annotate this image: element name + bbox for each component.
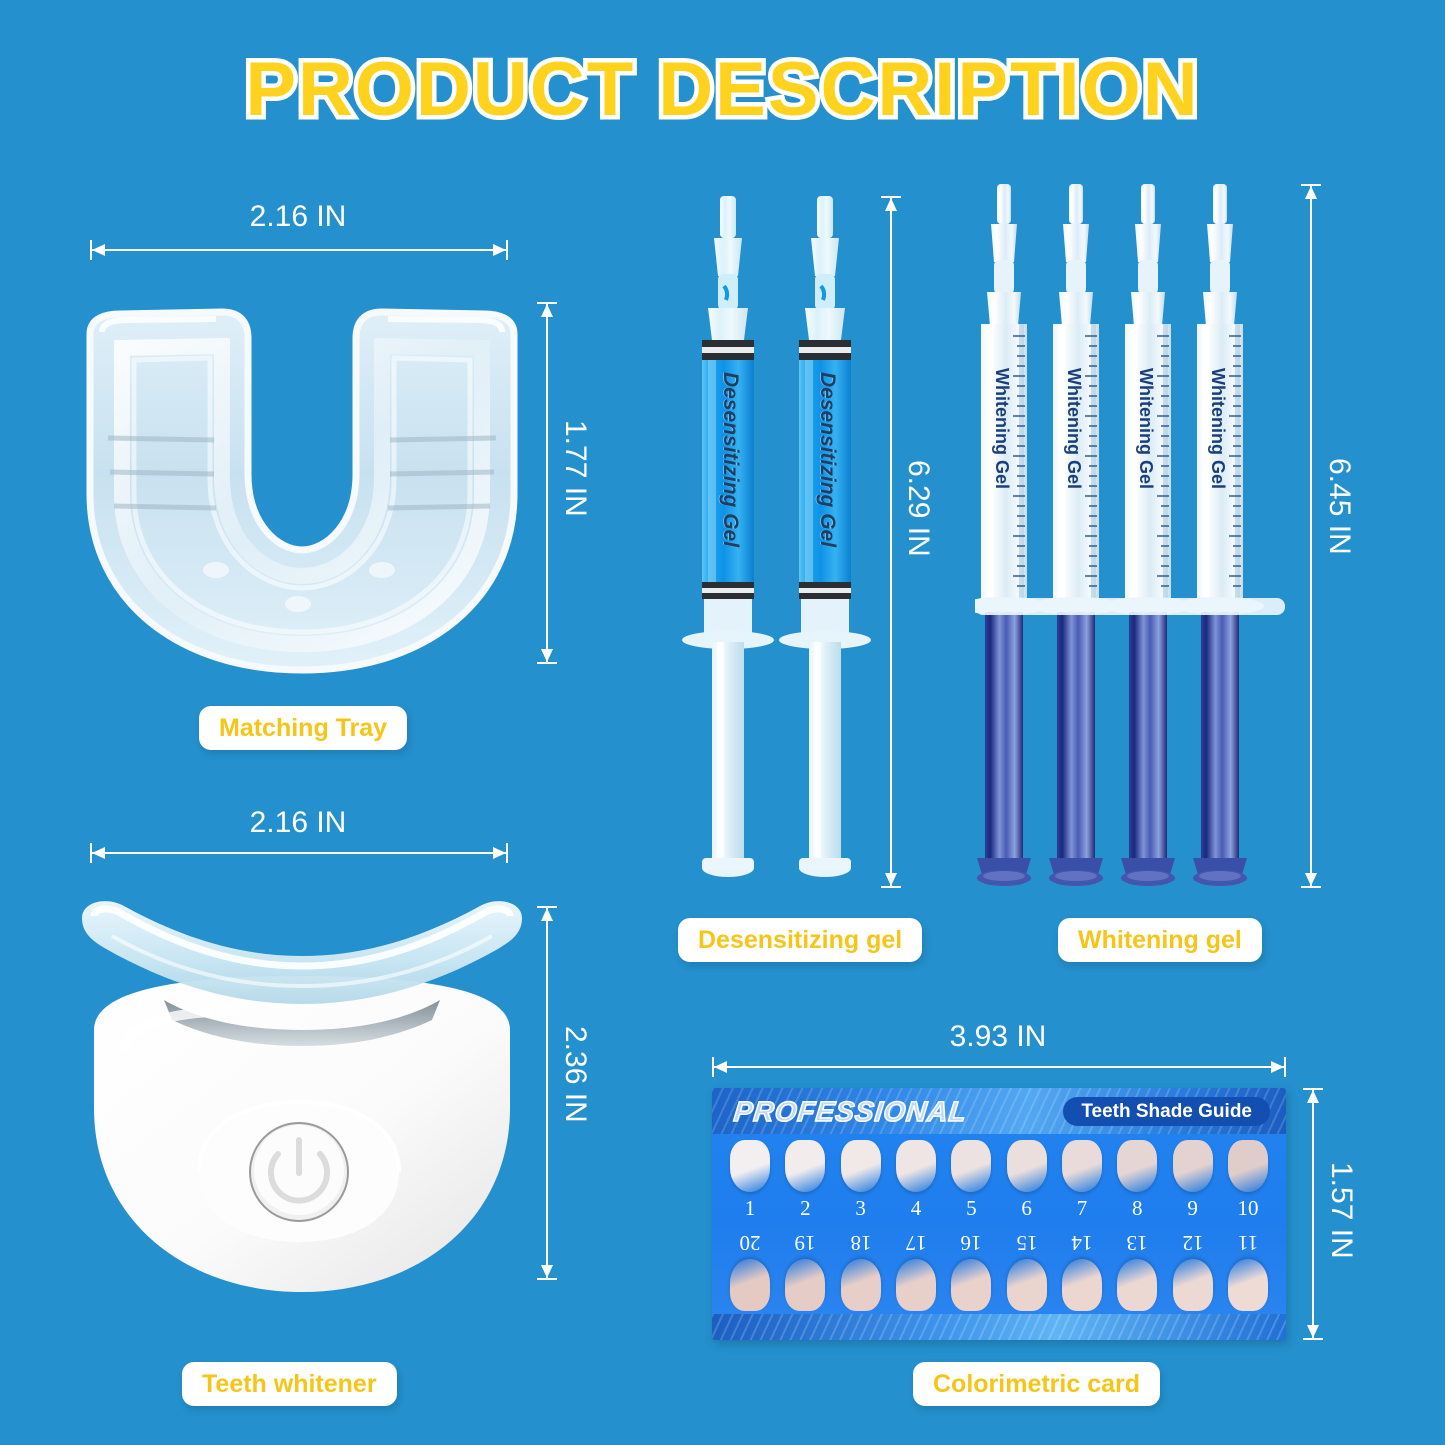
shade-number: 7 bbox=[1077, 1196, 1088, 1221]
shade-cell: 7 bbox=[1062, 1140, 1102, 1221]
shade-cell: 1 bbox=[730, 1140, 770, 1221]
arrow-right-icon bbox=[493, 847, 506, 859]
tooth-swatch bbox=[951, 1140, 991, 1192]
shade-number: 11 bbox=[1238, 1230, 1258, 1255]
tray-width-label: 2.16 IN bbox=[88, 200, 508, 234]
tooth-swatch bbox=[1007, 1259, 1047, 1311]
whitener-width-label: 2.16 IN bbox=[88, 806, 508, 840]
shade-number: 2 bbox=[800, 1196, 811, 1221]
card-height-label: 1.57 IN bbox=[1324, 1162, 1358, 1259]
whitening-syringe-group bbox=[975, 178, 1285, 890]
shade-number: 20 bbox=[740, 1230, 761, 1255]
tooth-swatch bbox=[785, 1140, 825, 1192]
arrow-right-icon bbox=[1271, 1061, 1284, 1073]
tooth-swatch bbox=[951, 1259, 991, 1311]
tooth-swatch bbox=[1062, 1140, 1102, 1192]
tooth-swatch bbox=[896, 1140, 936, 1192]
tooth-swatch bbox=[1228, 1259, 1268, 1311]
shade-cell: 10 bbox=[1228, 1140, 1268, 1221]
tray-height-label: 1.77 IN bbox=[558, 420, 592, 517]
tooth-swatch bbox=[1228, 1140, 1268, 1192]
shade-number: 8 bbox=[1132, 1196, 1143, 1221]
shade-cell: 12 bbox=[1173, 1230, 1213, 1311]
arrow-down-icon bbox=[1307, 1325, 1319, 1338]
arrow-down-icon bbox=[541, 649, 553, 662]
whitening-gel-label: Whitening gel bbox=[1078, 926, 1242, 955]
desensitizing-height-dimension-line bbox=[890, 196, 892, 888]
arrow-left-icon bbox=[92, 847, 105, 859]
shade-number: 14 bbox=[1071, 1230, 1092, 1255]
tooth-swatch bbox=[1117, 1140, 1157, 1192]
matching-tray-image bbox=[72, 288, 532, 680]
colorimetric-card-label: Colorimetric card bbox=[933, 1370, 1140, 1399]
whitening-height-dimension-line bbox=[1310, 184, 1312, 888]
arrow-down-icon bbox=[1305, 873, 1317, 886]
infographic-canvas: PRODUCT DESCRIPTION 2.16 IN 1.77 IN bbox=[0, 0, 1445, 1445]
shade-cell: 18 bbox=[841, 1230, 881, 1311]
colorimetric-card-label-badge: Colorimetric card bbox=[913, 1362, 1160, 1406]
matching-tray-label: Matching Tray bbox=[219, 714, 387, 743]
arrow-up-icon bbox=[885, 198, 897, 211]
desensitizing-syringe-text-2: Desensitizing Gel bbox=[815, 372, 839, 547]
tooth-swatch bbox=[841, 1259, 881, 1311]
shade-number: 12 bbox=[1182, 1230, 1203, 1255]
card-body: 12345678910 20191817161514131211 bbox=[712, 1134, 1286, 1314]
shade-cell: 4 bbox=[896, 1140, 936, 1221]
whitener-height-label: 2.36 IN bbox=[558, 1026, 592, 1123]
arrow-left-icon bbox=[92, 244, 105, 256]
tooth-swatch bbox=[896, 1259, 936, 1311]
shade-number: 6 bbox=[1021, 1196, 1032, 1221]
colorimetric-card-image: PROFESSIONAL Teeth Shade Guide 123456789… bbox=[712, 1088, 1286, 1340]
shade-cell: 2 bbox=[785, 1140, 825, 1221]
tooth-swatch bbox=[1173, 1140, 1213, 1192]
shade-number: 5 bbox=[966, 1196, 977, 1221]
shade-cell: 15 bbox=[1007, 1230, 1047, 1311]
arrow-left-icon bbox=[714, 1061, 727, 1073]
shade-cell: 6 bbox=[1007, 1140, 1047, 1221]
teeth-whitener-label: Teeth whitener bbox=[202, 1370, 377, 1399]
shade-number: 3 bbox=[855, 1196, 866, 1221]
shade-cell: 14 bbox=[1062, 1230, 1102, 1311]
desensitizing-height-label: 6.29 IN bbox=[901, 460, 935, 557]
desensitizing-gel-label: Desensitizing gel bbox=[698, 926, 902, 955]
desensitizing-syringe-group bbox=[680, 190, 880, 890]
card-width-dimension-line bbox=[712, 1066, 1286, 1068]
whitening-syringe-text-3: Whitening Gel bbox=[1135, 368, 1156, 489]
whitening-syringe-text-2: Whitening Gel bbox=[1063, 368, 1084, 489]
whitening-syringe-text-1: Whitening Gel bbox=[991, 368, 1012, 489]
arrow-up-icon bbox=[1305, 186, 1317, 199]
tray-height-dimension-line bbox=[546, 302, 548, 664]
card-top-bar: PROFESSIONAL Teeth Shade Guide bbox=[712, 1088, 1286, 1134]
arrow-up-icon bbox=[1307, 1090, 1319, 1103]
shade-cell: 5 bbox=[951, 1140, 991, 1221]
shade-number: 10 bbox=[1237, 1196, 1258, 1221]
arrow-right-icon bbox=[493, 244, 506, 256]
desensitizing-gel-label-badge: Desensitizing gel bbox=[678, 918, 922, 962]
shade-cell: 17 bbox=[896, 1230, 936, 1311]
tooth-swatch bbox=[1173, 1259, 1213, 1311]
shade-number: 1 bbox=[745, 1196, 756, 1221]
shade-number: 18 bbox=[850, 1230, 871, 1255]
whitener-height-dimension-line bbox=[546, 906, 548, 1280]
tooth-swatch bbox=[1007, 1140, 1047, 1192]
tooth-swatch bbox=[730, 1259, 770, 1311]
whitening-height-label: 6.45 IN bbox=[1322, 458, 1356, 555]
shade-cell: 13 bbox=[1117, 1230, 1157, 1311]
shade-cell: 19 bbox=[785, 1230, 825, 1311]
shade-number: 9 bbox=[1187, 1196, 1198, 1221]
shade-row-top: 12345678910 bbox=[712, 1140, 1286, 1221]
shade-number: 15 bbox=[1016, 1230, 1037, 1255]
shade-number: 16 bbox=[961, 1230, 982, 1255]
arrow-down-icon bbox=[885, 873, 897, 886]
whitener-width-dimension-line bbox=[90, 852, 508, 854]
shade-number: 13 bbox=[1127, 1230, 1148, 1255]
card-streaks-decoration bbox=[712, 1314, 1286, 1340]
shade-cell: 9 bbox=[1173, 1140, 1213, 1221]
card-brand-logo: PROFESSIONAL bbox=[732, 1096, 968, 1128]
shade-number: 19 bbox=[795, 1230, 816, 1255]
shade-row-bottom: 20191817161514131211 bbox=[712, 1230, 1286, 1311]
whitening-gel-label-badge: Whitening gel bbox=[1058, 918, 1262, 962]
matching-tray-label-badge: Matching Tray bbox=[199, 706, 407, 750]
card-width-label: 3.93 IN bbox=[710, 1020, 1286, 1054]
shade-number: 17 bbox=[905, 1230, 926, 1255]
tooth-swatch bbox=[841, 1140, 881, 1192]
shade-cell: 3 bbox=[841, 1140, 881, 1221]
card-subtitle-pill: Teeth Shade Guide bbox=[1063, 1097, 1270, 1126]
desensitizing-syringe-text-1: Desensitizing Gel bbox=[718, 372, 742, 547]
tooth-swatch bbox=[1062, 1259, 1102, 1311]
shade-number: 4 bbox=[911, 1196, 922, 1221]
tray-width-dimension-line bbox=[90, 249, 508, 251]
tooth-swatch bbox=[730, 1140, 770, 1192]
shade-cell: 20 bbox=[730, 1230, 770, 1311]
whitening-syringe-text-4: Whitening Gel bbox=[1207, 368, 1228, 489]
arrow-up-icon bbox=[541, 908, 553, 921]
teeth-whitener-label-badge: Teeth whitener bbox=[182, 1362, 397, 1406]
page-title: PRODUCT DESCRIPTION bbox=[0, 46, 1445, 133]
arrow-down-icon bbox=[541, 1265, 553, 1278]
arrow-up-icon bbox=[541, 304, 553, 317]
shade-cell: 11 bbox=[1228, 1230, 1268, 1311]
tooth-swatch bbox=[785, 1259, 825, 1311]
card-height-dimension-line bbox=[1312, 1088, 1314, 1340]
card-bottom-bar bbox=[712, 1314, 1286, 1340]
shade-cell: 8 bbox=[1117, 1140, 1157, 1221]
shade-cell: 16 bbox=[951, 1230, 991, 1311]
tooth-swatch bbox=[1117, 1259, 1157, 1311]
teeth-whitener-image bbox=[72, 890, 532, 1298]
